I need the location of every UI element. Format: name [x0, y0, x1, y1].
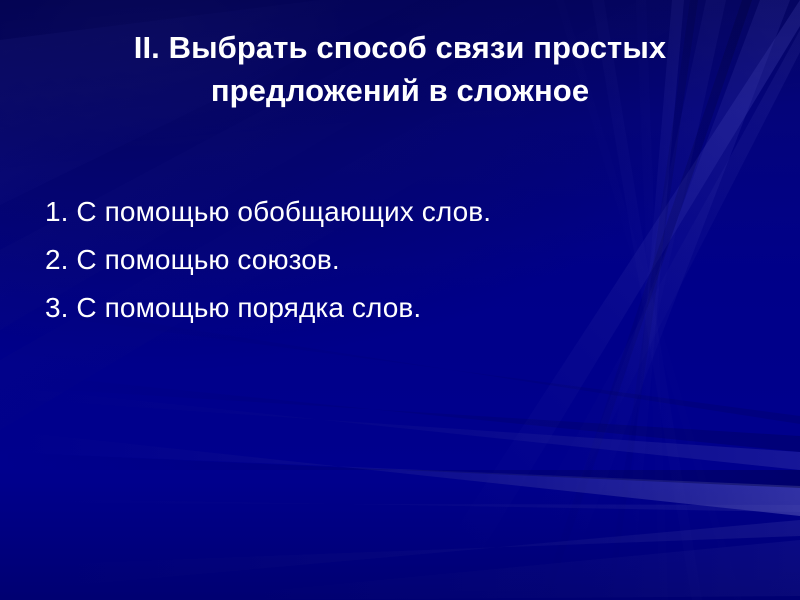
slide-body-list: 1. С помощью обобщающих слов. 2. С помощ… [45, 188, 760, 332]
title-line-1: II. Выбрать способ связи простых [40, 26, 760, 69]
slide-content: II. Выбрать способ связи простых предлож… [0, 0, 800, 600]
slide-title: II. Выбрать способ связи простых предлож… [40, 26, 760, 112]
presentation-slide: II. Выбрать способ связи простых предлож… [0, 0, 800, 600]
list-item: 3. С помощью порядка слов. [45, 284, 760, 332]
list-item: 2. С помощью союзов. [45, 236, 760, 284]
list-item: 1. С помощью обобщающих слов. [45, 188, 760, 236]
title-line-2: предложений в сложное [40, 69, 760, 112]
